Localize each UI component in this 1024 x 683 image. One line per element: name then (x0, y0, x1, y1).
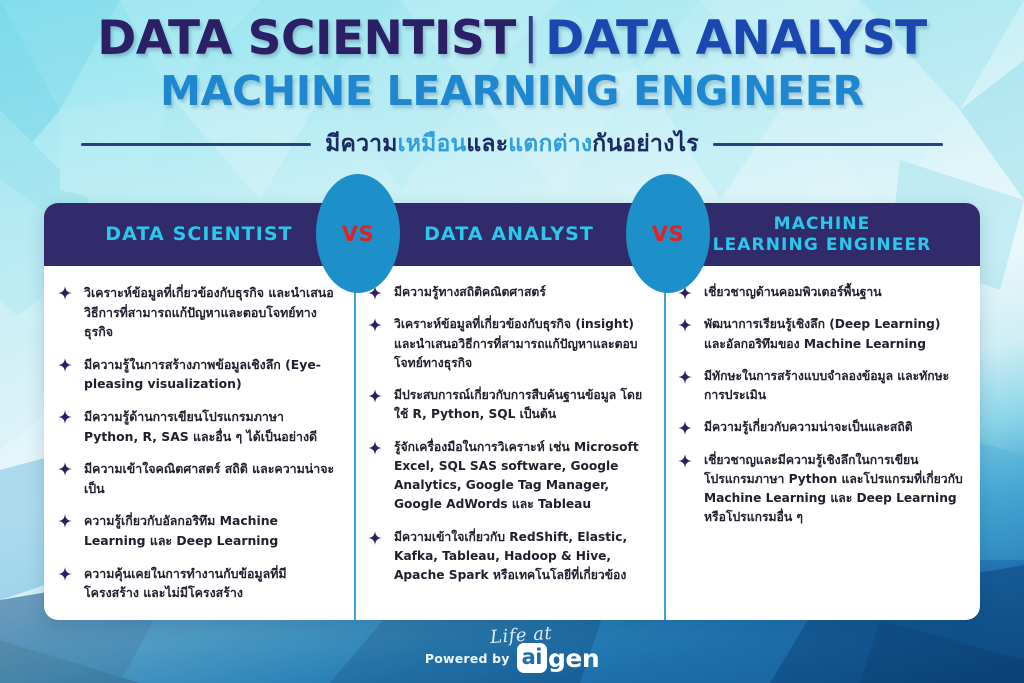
brand-row: Powered by aigen (425, 643, 599, 673)
list-item-text: พัฒนาการเรียนรู้เชิงลึก (Deep Learning) … (704, 317, 940, 350)
powered-by-label: Powered by (425, 651, 510, 666)
star-bullet-icon (368, 441, 382, 455)
vs-badge-2: VS (626, 174, 710, 293)
star-bullet-icon (58, 514, 72, 528)
list-item: ความรู้เกี่ยวกับอัลกอริทึม Machine Learn… (56, 511, 340, 550)
bullet-list-data-scientist: วิเคราะห์ข้อมูลที่เกี่ยวข้องกับธุรกิจ แล… (56, 283, 340, 603)
subtitle-rule-left (81, 143, 311, 146)
list-item: มีประสบการณ์เกี่ยวกับการสืบค้นฐานข้อมูล … (366, 386, 650, 425)
list-item: มีความรู้ในการสร้างภาพข้อมูลเชิงลึก (Eye… (56, 355, 340, 394)
infographic-poster: DATA SCIENTIST|DATA ANALYST MACHINE LEAR… (0, 0, 1024, 683)
star-bullet-icon (678, 318, 692, 332)
bullet-list-ml-engineer: เชี่ยวชาญด้านคอมพิวเตอร์พื้นฐาน พัฒนาการ… (676, 283, 966, 528)
star-bullet-icon (58, 410, 72, 424)
column-header-data-analyst: DATA ANALYST (354, 203, 664, 266)
list-item-text: มีความรู้เกี่ยวกับความน่าจะเป็นและสถิติ (704, 420, 913, 434)
bullet-list-data-analyst: มีความรู้ทางสถิติคณิตศาสตร์ วิเคราะห์ข้อ… (366, 283, 650, 585)
subtitle-part-5: กันอย่างไร (592, 131, 699, 157)
subtitle-part-2: เหมือน (398, 131, 467, 157)
column-header-data-scientist: DATA SCIENTIST (44, 203, 354, 266)
list-item: มีความเข้าใจคณิตศาสตร์ สถิติ และความน่าจ… (56, 459, 340, 498)
list-item: เชี่ยวชาญด้านคอมพิวเตอร์พื้นฐาน (676, 283, 966, 302)
title-data-analyst: DATA ANALYST (545, 11, 927, 66)
column-header-data-analyst-label: DATA ANALYST (424, 223, 594, 246)
column-header-data-scientist-label: DATA SCIENTIST (105, 223, 292, 246)
list-item-text: มีความรู้ทางสถิติคณิตศาสตร์ (394, 285, 546, 299)
title-line-1: DATA SCIENTIST|DATA ANALYST (0, 14, 1024, 63)
list-item: ความคุ้นเคยในการทำงานกับข้อมูลที่มีโครงส… (56, 564, 340, 603)
star-bullet-icon (58, 286, 72, 300)
star-bullet-icon (58, 358, 72, 372)
life-at-script-text: Life at (489, 623, 553, 648)
list-item-text: มีทักษะในการสร้างแบบจำลองข้อมูล และทักษะ… (704, 369, 949, 402)
list-item: มีความรู้ด้านการเขียนโปรแกรมภาษา Python,… (56, 407, 340, 446)
subtitle-part-3: และ (466, 131, 508, 157)
aigen-logo: aigen (517, 643, 600, 673)
list-item-text: มีความรู้ในการสร้างภาพข้อมูลเชิงลึก (Eye… (84, 357, 321, 392)
list-item: วิเคราะห์ข้อมูลที่เกี่ยวข้องกับธุรกิจ (i… (366, 315, 650, 373)
list-item-text: มีความเข้าใจเกี่ยวกับ RedShift, Elastic,… (394, 530, 627, 583)
subtitle-row: มีความเหมือนและแตกต่างกันอย่างไร (0, 126, 1024, 162)
title-block: DATA SCIENTIST|DATA ANALYST MACHINE LEAR… (0, 14, 1024, 162)
list-item-text: เชี่ยวชาญด้านคอมพิวเตอร์พื้นฐาน (704, 285, 882, 299)
comparison-card-header: DATA SCIENTIST DATA ANALYST MACHINE LEAR… (44, 203, 980, 266)
column-data-analyst: มีความรู้ทางสถิติคณิตศาสตร์ วิเคราะห์ข้อ… (354, 283, 664, 610)
list-item-text: วิเคราะห์ข้อมูลที่เกี่ยวข้องกับธุรกิจ แล… (84, 285, 334, 339)
list-item: เชี่ยวชาญและมีความรู้เชิงลึกในการเขียนโป… (676, 451, 966, 528)
list-item-text: มีประสบการณ์เกี่ยวกับการสืบค้นฐานข้อมูล … (394, 388, 642, 421)
list-item-text: ความคุ้นเคยในการทำงานกับข้อมูลที่มีโครงส… (84, 566, 287, 601)
title-data-scientist: DATA SCIENTIST (97, 11, 516, 66)
list-item-text: รู้จักเครื่องมือในการวิเคราะห์ เช่น Micr… (394, 440, 639, 512)
list-item-text: วิเคราะห์ข้อมูลที่เกี่ยวข้องกับธุรกิจ (i… (394, 317, 638, 370)
list-item: มีความรู้ทางสถิติคณิตศาสตร์ (366, 283, 650, 302)
column-header-ml-engineer-label: MACHINE LEARNING ENGINEER (713, 214, 932, 255)
star-bullet-icon (678, 370, 692, 384)
subtitle-part-4: แตกต่าง (508, 131, 592, 157)
subtitle-part-1: มีความ (325, 131, 398, 157)
footer-branding: Life at Powered by aigen (0, 625, 1024, 673)
list-item: มีความรู้เกี่ยวกับความน่าจะเป็นและสถิติ (676, 418, 966, 437)
title-divider-pipe: | (516, 9, 545, 64)
list-item-text: มีความรู้ด้านการเขียนโปรแกรมภาษา Python,… (84, 409, 317, 444)
column-header-ml-engineer-line1: MACHINE (774, 214, 871, 234)
comparison-card: DATA SCIENTIST DATA ANALYST MACHINE LEAR… (44, 203, 980, 620)
list-item-text: มีความเข้าใจคณิตศาสตร์ สถิติ และความน่าจ… (84, 461, 334, 496)
aigen-logo-gen: gen (548, 646, 599, 671)
vs-badge-1: VS (316, 174, 400, 293)
comparison-card-body: วิเคราะห์ข้อมูลที่เกี่ยวข้องกับธุรกิจ แล… (44, 266, 980, 620)
list-item-text: เชี่ยวชาญและมีความรู้เชิงลึกในการเขียนโป… (704, 453, 963, 525)
star-bullet-icon (678, 454, 692, 468)
list-item-text: ความรู้เกี่ยวกับอัลกอริทึม Machine Learn… (84, 513, 278, 548)
column-ml-engineer: เชี่ยวชาญด้านคอมพิวเตอร์พื้นฐาน พัฒนาการ… (664, 283, 980, 610)
vs-badge-2-label: VS (652, 222, 684, 246)
subtitle-rule-right (713, 143, 943, 146)
list-item: วิเคราะห์ข้อมูลที่เกี่ยวข้องกับธุรกิจ แล… (56, 283, 340, 342)
list-item: พัฒนาการเรียนรู้เชิงลึก (Deep Learning) … (676, 315, 966, 354)
list-item: มีความเข้าใจเกี่ยวกับ RedShift, Elastic,… (366, 528, 650, 586)
column-data-scientist: วิเคราะห์ข้อมูลที่เกี่ยวข้องกับธุรกิจ แล… (44, 283, 354, 610)
star-bullet-icon (368, 318, 382, 332)
vs-badge-1-label: VS (342, 222, 374, 246)
star-bullet-icon (678, 421, 692, 435)
list-item: รู้จักเครื่องมือในการวิเคราะห์ เช่น Micr… (366, 438, 650, 515)
star-bullet-icon (58, 567, 72, 581)
list-item: มีทักษะในการสร้างแบบจำลองข้อมูล และทักษะ… (676, 367, 966, 406)
title-ml-engineer: MACHINE LEARNING ENGINEER (0, 70, 1024, 113)
star-bullet-icon (58, 462, 72, 476)
star-bullet-icon (368, 531, 382, 545)
star-bullet-icon (368, 389, 382, 403)
column-header-ml-engineer: MACHINE LEARNING ENGINEER (664, 203, 980, 266)
column-header-ml-engineer-line2: LEARNING ENGINEER (713, 235, 932, 255)
aigen-logo-ai: ai (517, 643, 547, 673)
subtitle-text: มีความเหมือนและแตกต่างกันอย่างไร (325, 126, 699, 162)
